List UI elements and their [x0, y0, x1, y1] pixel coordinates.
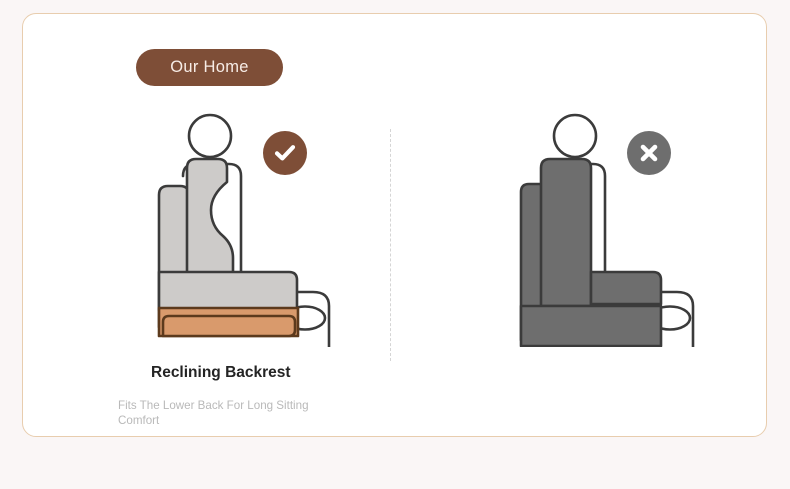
comparison-card: Our Home: [22, 13, 767, 437]
badge-our-home: Our Home: [136, 49, 283, 86]
sofa-illustration-reclining: [113, 102, 343, 347]
comparison-panel-right: Other Homes Straight Backrest: [396, 14, 768, 436]
sofa-base-block: [521, 306, 661, 346]
sofa-backrest-straight: [541, 159, 591, 306]
caption-title-left: Reclining Backrest: [151, 364, 291, 382]
comparison-panel-left: Our Home: [23, 14, 395, 436]
sofa-seat-cushion: [591, 272, 661, 304]
panel-divider: [390, 129, 391, 361]
caption-subtitle-left: Fits The Lower Back For Long Sitting Com…: [118, 398, 333, 428]
sofa-base-inner-edge: [163, 316, 295, 336]
sofa-illustration-straight: [478, 102, 708, 347]
sofa-seat-cushion: [159, 272, 297, 310]
person-head: [554, 115, 596, 157]
person-head: [189, 115, 231, 157]
